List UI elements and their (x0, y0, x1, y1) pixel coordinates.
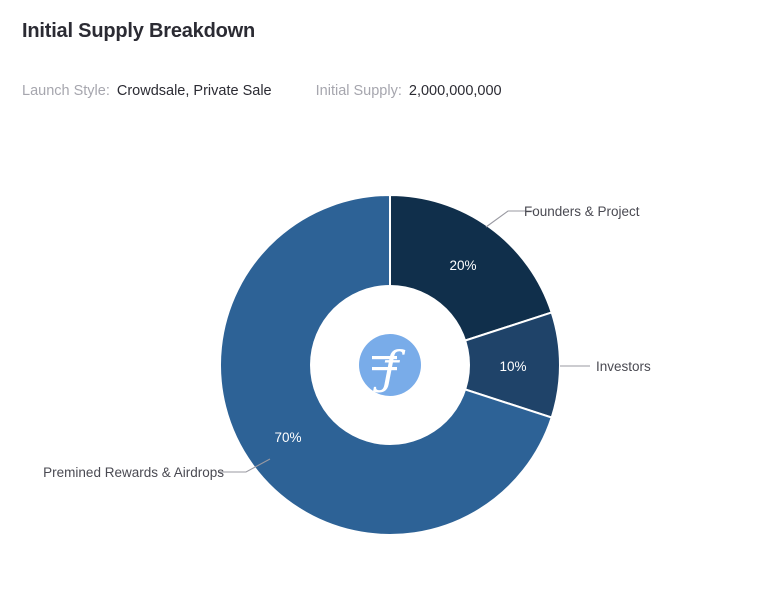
callout-label-investors: Investors (596, 359, 651, 374)
filecoin-glyph-bar-upper (372, 356, 397, 359)
slice-value-premined: 70% (274, 430, 301, 445)
donut-chart: Founders & Project Investors Premined Re… (0, 0, 768, 592)
slice-value-investors: 10% (499, 359, 526, 374)
filecoin-logo-icon: ƒ (359, 334, 421, 396)
callout-label-founders: Founders & Project (524, 204, 640, 219)
donut-chart-svg: Founders & Project Investors Premined Re… (0, 0, 768, 592)
filecoin-glyph-bar-lower (372, 367, 397, 370)
slice-value-founders: 20% (449, 258, 476, 273)
callout-label-premined: Premined Rewards & Airdrops (43, 465, 224, 480)
